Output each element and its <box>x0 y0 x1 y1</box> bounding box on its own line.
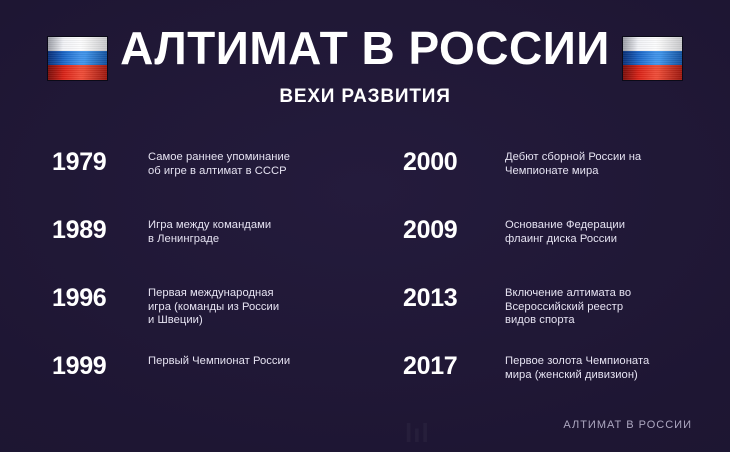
timeline-milestone: 2009 Основание Федерации флаинг диска Ро… <box>392 208 730 276</box>
timeline-milestone: 1996 Первая международная игра (команды … <box>40 276 385 344</box>
timeline-columns: 1979 Самое раннее упоминание об игре в а… <box>0 140 730 402</box>
milestone-description: Первое золота Чемпионата мира (женский д… <box>505 355 730 382</box>
timeline-milestone: 2017 Первое золота Чемпионата мира (женс… <box>392 344 730 412</box>
milestone-year: 2000 <box>403 149 457 176</box>
russian-flag-icon-right <box>622 36 683 81</box>
milestone-description: Игра между командами в Ленинграде <box>148 219 380 246</box>
milestone-year: 1979 <box>52 149 106 176</box>
milestone-year: 2013 <box>403 285 457 312</box>
timeline-milestone: 1989 Игра между командами в Ленинграде <box>40 208 385 276</box>
timeline-milestone: 2013 Включение алтимата во Всероссийский… <box>392 276 730 344</box>
flag-band-red <box>623 65 682 80</box>
timeline-milestone: 1999 Первый Чемпионат России <box>40 344 385 412</box>
footer-brand-label: АЛТИМАТ В РОССИИ <box>563 418 692 432</box>
presentation-slide: АЛТИМАТ В РОССИИ ВЕХИ РАЗВИТИЯ 1979 Само… <box>0 0 730 452</box>
milestone-description: Самое раннее упоминание об игре в алтима… <box>148 151 380 178</box>
timeline-column-left: 1979 Самое раннее упоминание об игре в а… <box>40 140 385 402</box>
milestone-description: Первый Чемпионат России <box>148 355 380 369</box>
milestone-year: 2017 <box>403 353 457 380</box>
page-subtitle: ВЕХИ РАЗВИТИЯ <box>0 86 730 108</box>
flag-band-white <box>623 37 682 52</box>
flag-band-blue <box>623 51 682 66</box>
slide-header: АЛТИМАТ В РОССИИ ВЕХИ РАЗВИТИЯ <box>0 0 730 122</box>
milestone-description: Основание Федерации флаинг диска России <box>505 219 730 246</box>
timeline-column-right: 2000 Дебют сборной России на Чемпионате … <box>392 140 730 402</box>
milestone-year: 1989 <box>52 217 106 244</box>
milestone-year: 2009 <box>403 217 457 244</box>
timeline-milestone: 2000 Дебют сборной России на Чемпионате … <box>392 140 730 208</box>
milestone-description: Первая международная игра (команды из Ро… <box>148 287 380 328</box>
milestone-description: Включение алтимата во Всероссийский реес… <box>505 287 730 328</box>
milestone-year: 1996 <box>52 285 106 312</box>
slide-footer: АЛТИМАТ В РОССИИ <box>0 406 730 452</box>
timeline-milestone: 1979 Самое раннее упоминание об игре в а… <box>40 140 385 208</box>
milestone-description: Дебют сборной России на Чемпионате мира <box>505 151 730 178</box>
milestone-year: 1999 <box>52 353 106 380</box>
page-title: АЛТИМАТ В РОССИИ <box>0 22 730 74</box>
